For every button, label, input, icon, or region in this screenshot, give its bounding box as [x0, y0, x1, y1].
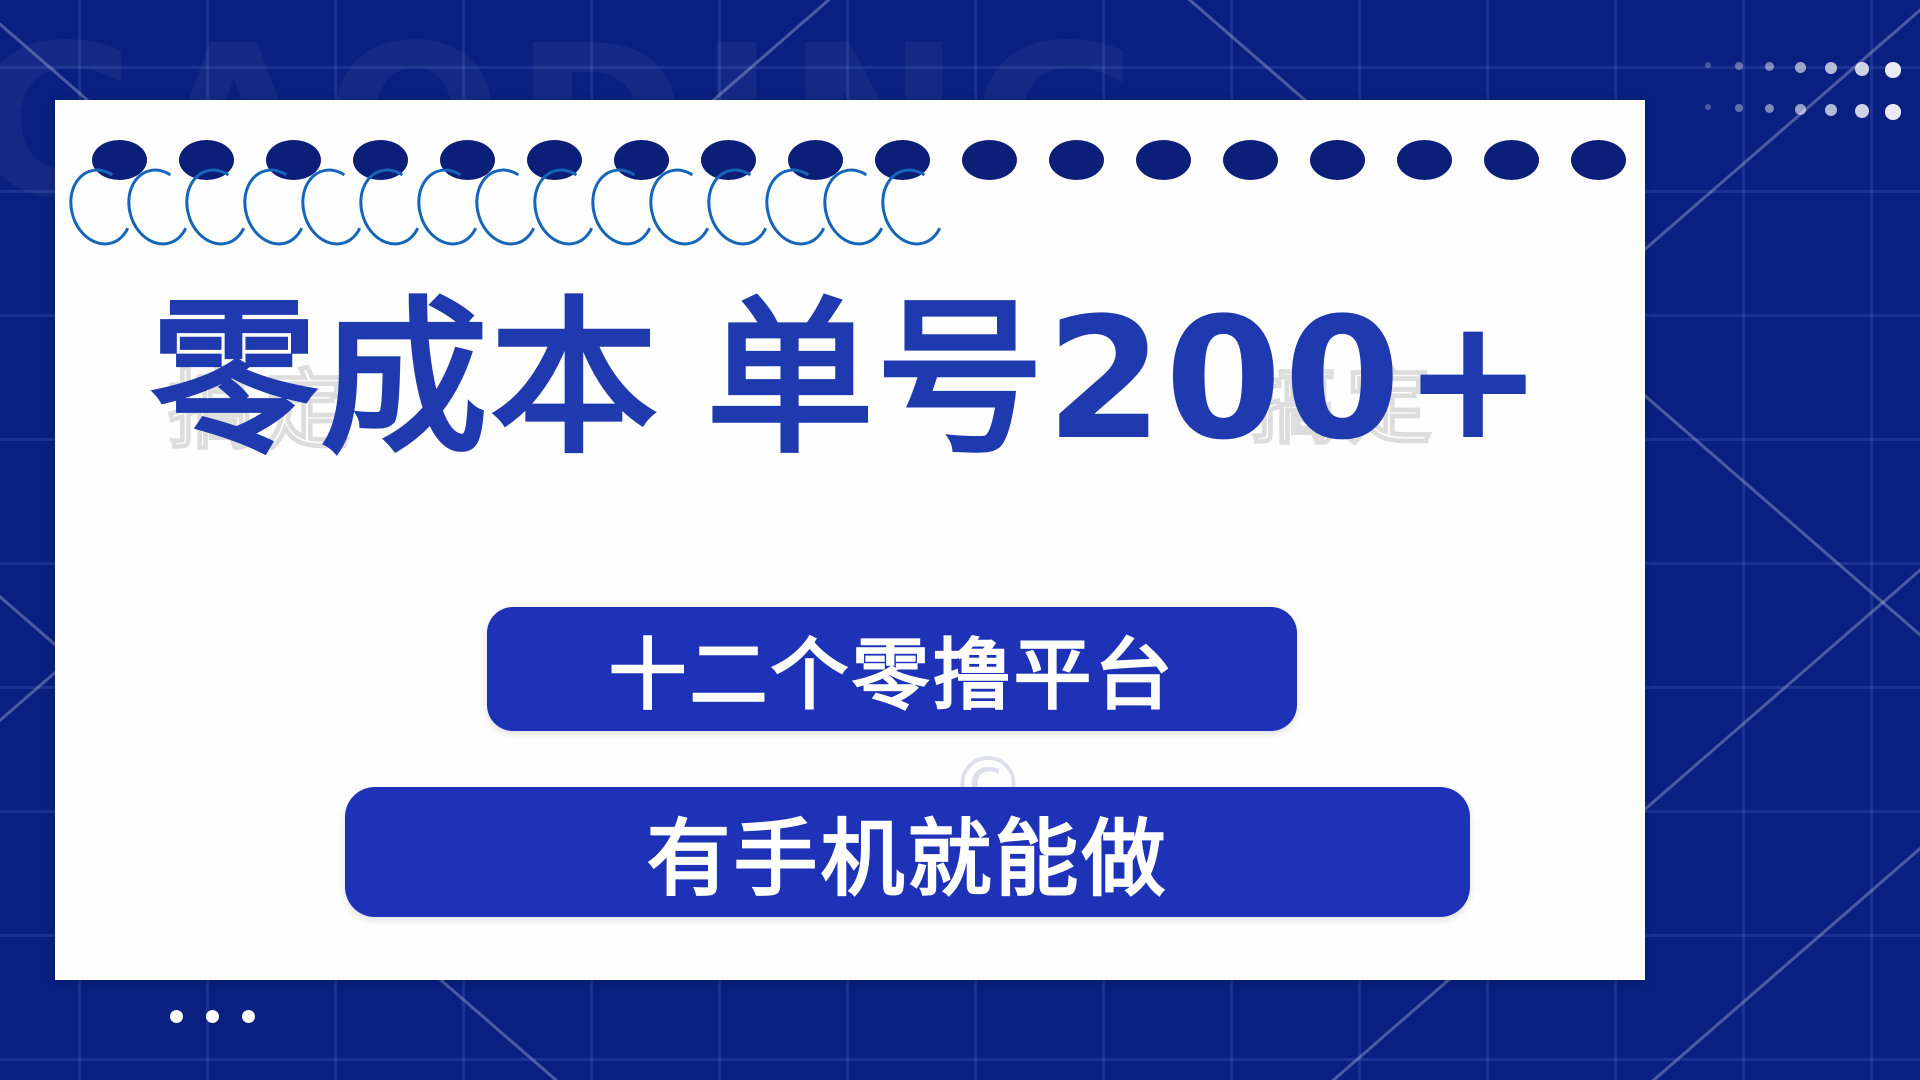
decor-dot: [1795, 62, 1806, 73]
decor-dot: [170, 1010, 183, 1023]
spiral-hole: [1397, 140, 1452, 180]
feature-pill-platforms-label: 十二个零撸平台: [608, 613, 1175, 725]
decor-dot: [1855, 104, 1869, 118]
decor-dot: [1795, 104, 1806, 115]
spiral-ring: [872, 161, 953, 253]
spiral-hole: [1223, 140, 1278, 180]
decor-dot: [1765, 104, 1774, 113]
decor-dot: [1825, 62, 1837, 74]
headline-part-2: 单号200+: [706, 281, 1545, 477]
spiral-hole: [1136, 140, 1191, 180]
feature-pill-platforms[interactable]: 十二个零撸平台: [487, 607, 1297, 731]
decor-dot: [1825, 104, 1837, 116]
spiral-hole: [1571, 140, 1626, 180]
page-title: 零成本单号200+: [150, 285, 1570, 473]
decor-dots-top-right: [1705, 62, 1920, 132]
decor-dot: [1885, 104, 1901, 120]
spiral-hole: [962, 140, 1017, 180]
feature-pill-phone[interactable]: 有手机就能做: [345, 787, 1470, 917]
spiral-rings: [70, 168, 970, 248]
decor-dot: [1885, 62, 1901, 78]
decor-dot: [242, 1010, 255, 1023]
poster-canvas: GAODING 搞定 搞定 © 零成本单号200+ 十二个零撸平台 有手机就能做: [0, 0, 1920, 1080]
feature-pill-phone-label: 有手机就能做: [646, 792, 1168, 913]
spiral-hole: [1049, 140, 1104, 180]
decor-dot: [1735, 104, 1743, 112]
spiral-hole: [1310, 140, 1365, 180]
decor-dot: [1855, 62, 1869, 76]
decor-dot: [206, 1010, 219, 1023]
decor-dot: [1765, 62, 1774, 71]
decor-dot: [1735, 62, 1743, 70]
headline-part-1: 零成本: [150, 281, 660, 477]
spiral-hole: [1484, 140, 1539, 180]
decor-dot: [1705, 62, 1711, 68]
decor-dot: [1705, 104, 1711, 110]
decor-dots-bottom-left: [170, 1010, 290, 1030]
